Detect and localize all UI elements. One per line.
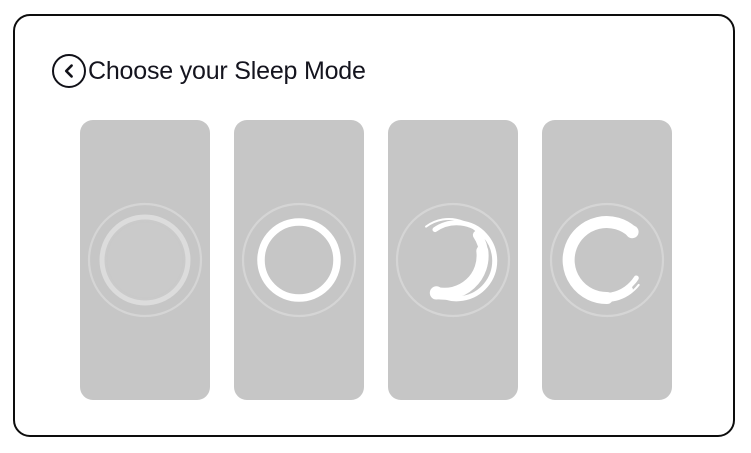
sleep-mode-list (80, 120, 690, 400)
device-screen: Choose your Sleep Mode (13, 14, 735, 437)
page-title: Choose your Sleep Mode (88, 59, 366, 84)
sleep-mode-card-3[interactable] (388, 120, 518, 400)
tapered-arc-clockwise-icon (388, 185, 518, 335)
tapered-arc-counterclockwise-icon (542, 185, 672, 335)
sleep-mode-card-4[interactable] (542, 120, 672, 400)
chevron-left-icon (60, 62, 78, 80)
screen-header: Choose your Sleep Mode (52, 54, 366, 88)
sleep-mode-card-2[interactable] (234, 120, 364, 400)
dim-filled-ring-icon (80, 185, 210, 335)
back-button[interactable] (52, 54, 86, 88)
full-bright-ring-icon (234, 185, 364, 335)
sleep-mode-card-1[interactable] (80, 120, 210, 400)
